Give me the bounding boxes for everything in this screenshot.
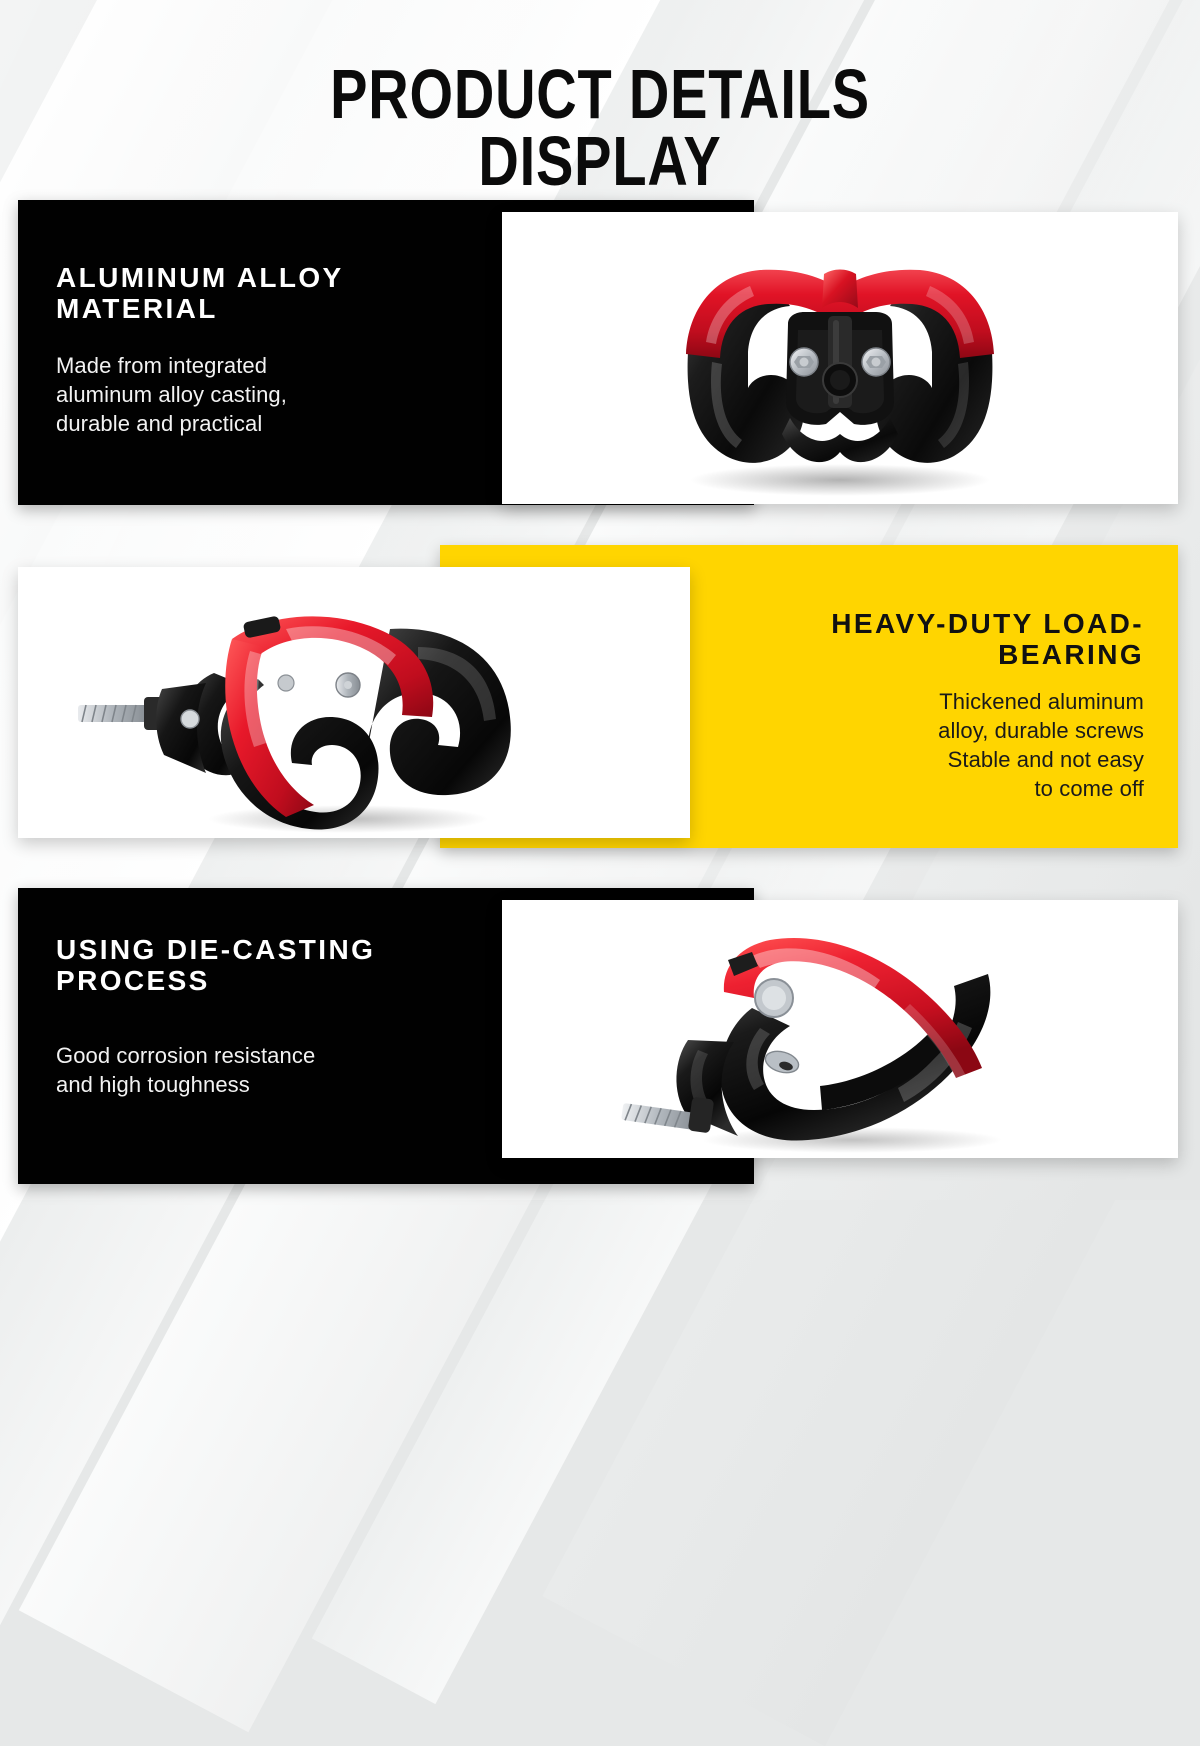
feature-3-body: Good corrosion resistance and high tough… (56, 1041, 486, 1099)
threaded-stud (621, 1097, 714, 1134)
feature-2-product-image (18, 567, 690, 838)
screw-center (336, 673, 360, 697)
feature-2-body: Thickened aluminum alloy, durable screws… (724, 687, 1144, 803)
dual-hook-front-view-icon (502, 212, 1178, 504)
feature-1-body: Made from integrated aluminum alloy cast… (56, 351, 476, 438)
feature-1-heading: ALUMINUM ALLOY MATERIAL (56, 262, 476, 325)
threaded-stud (78, 697, 166, 730)
feature-3-product-image (502, 900, 1178, 1158)
dual-hook-angled-view-icon (18, 567, 690, 838)
feature-1-product-image (502, 212, 1178, 504)
screw-left (790, 348, 818, 376)
feature-1-text-block: ALUMINUM ALLOY MATERIAL Made from integr… (56, 262, 476, 438)
feature-3-text-block: USING DIE-CASTING PROCESS Good corrosion… (56, 934, 486, 1099)
screw-right (862, 348, 890, 376)
feature-2-text-block: HEAVY-DUTY LOAD-BEARING Thickened alumin… (724, 608, 1144, 803)
page-title: PRODUCT DETAILS DISPLAY (120, 61, 1080, 195)
feature-2-heading: HEAVY-DUTY LOAD-BEARING (724, 608, 1144, 671)
feature-3-heading: USING DIE-CASTING PROCESS (56, 934, 486, 997)
pivot-pin (755, 979, 793, 1017)
single-hook-side-view-icon (502, 900, 1178, 1158)
